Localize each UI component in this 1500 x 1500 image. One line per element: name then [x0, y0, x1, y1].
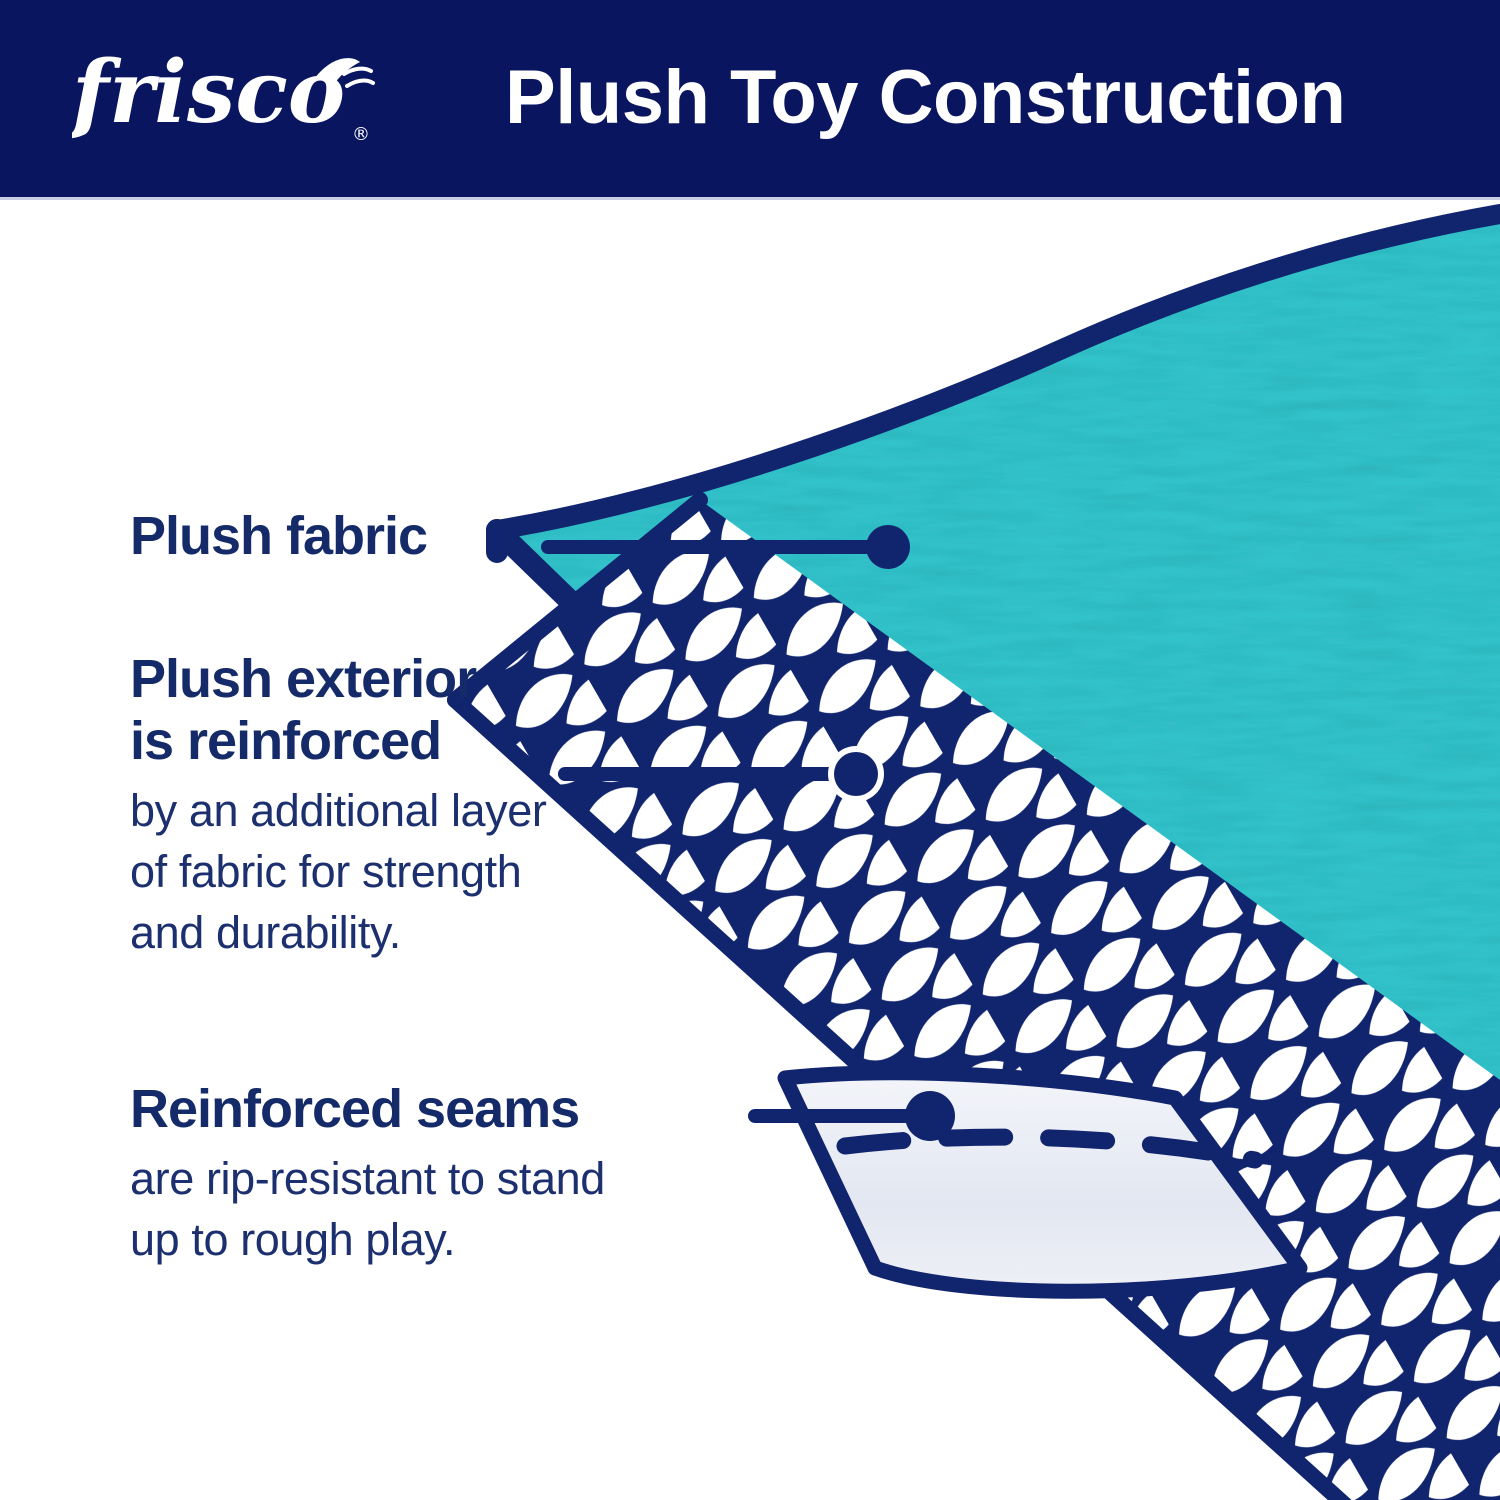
marker-dot-reinforced-seams	[905, 1091, 955, 1141]
infographic-page: frisco ® Plush Toy Construction	[0, 0, 1500, 1500]
callout-reinforced-seams: Reinforced seams are rip-resistant to st…	[130, 1078, 810, 1270]
callout-reinforced-seams-body: are rip-resistant to stand up to rough p…	[130, 1148, 810, 1270]
frisco-logo: frisco ®	[72, 40, 382, 150]
callout-plush-fabric: Plush fabric	[130, 505, 560, 567]
frisco-wordmark: frisco	[72, 42, 345, 143]
callout-plush-exterior: Plush exterior is reinforced by an addit…	[130, 648, 730, 963]
page-title: Plush Toy Construction	[505, 44, 1405, 152]
callout-plush-exterior-headline: Plush exterior is reinforced	[130, 648, 730, 772]
registered-trademark-icon: ®	[352, 124, 370, 145]
header-bar: frisco ® Plush Toy Construction	[0, 0, 1500, 200]
marker-dot-plush-fabric	[866, 525, 910, 569]
marker-dot-plush-exterior	[834, 752, 878, 796]
callout-plush-fabric-headline: Plush fabric	[130, 505, 560, 567]
frisco-logo-svg: frisco ®	[72, 40, 382, 150]
callout-plush-exterior-body: by an additional layer of fabric for str…	[130, 780, 730, 963]
logo-swoosh-line-2	[347, 81, 373, 86]
callout-reinforced-seams-headline: Reinforced seams	[130, 1078, 810, 1140]
